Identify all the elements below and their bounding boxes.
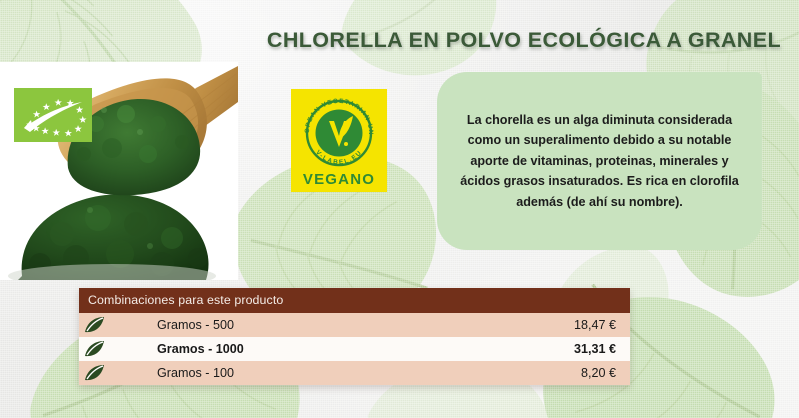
vegan-banner-text: VEGANO	[303, 171, 375, 188]
combination-price: 31,31 €	[574, 342, 630, 356]
table-row[interactable]: Gramos - 100 8,20 €	[79, 361, 630, 385]
description-text: La chorella es un alga diminuta consider…	[454, 110, 746, 212]
combination-price: 18,47 €	[574, 318, 630, 332]
combination-label: Gramos - 500	[109, 318, 574, 332]
vegan-label-logo: EUROPEAN VEGETARIAN UNION V-LABEL.EU VEG…	[291, 89, 387, 192]
combination-price: 8,20 €	[581, 366, 630, 380]
leaf-bullet-icon	[81, 314, 109, 336]
description-box: La chorella es un alga diminuta consider…	[437, 72, 762, 250]
table-row[interactable]: Gramos - 1000 31,31 €	[79, 337, 630, 361]
leaf-bullet-icon	[81, 362, 109, 384]
table-row[interactable]: Gramos - 500 18,47 €	[79, 313, 630, 337]
leaf-bullet-icon	[81, 338, 109, 360]
eu-organic-logo	[14, 88, 92, 142]
poster-canvas: CHLORELLA EN POLVO ECOLÓGICA A GRANEL	[0, 0, 799, 418]
combination-label: Gramos - 100	[109, 366, 581, 380]
combination-label: Gramos - 1000	[109, 342, 574, 356]
combinations-table: Combinaciones para este producto Gramos …	[79, 288, 630, 385]
page-title: CHLORELLA EN POLVO ECOLÓGICA A GRANEL	[0, 28, 781, 53]
product-photo-card	[0, 62, 238, 280]
combinations-header: Combinaciones para este producto	[79, 288, 630, 313]
